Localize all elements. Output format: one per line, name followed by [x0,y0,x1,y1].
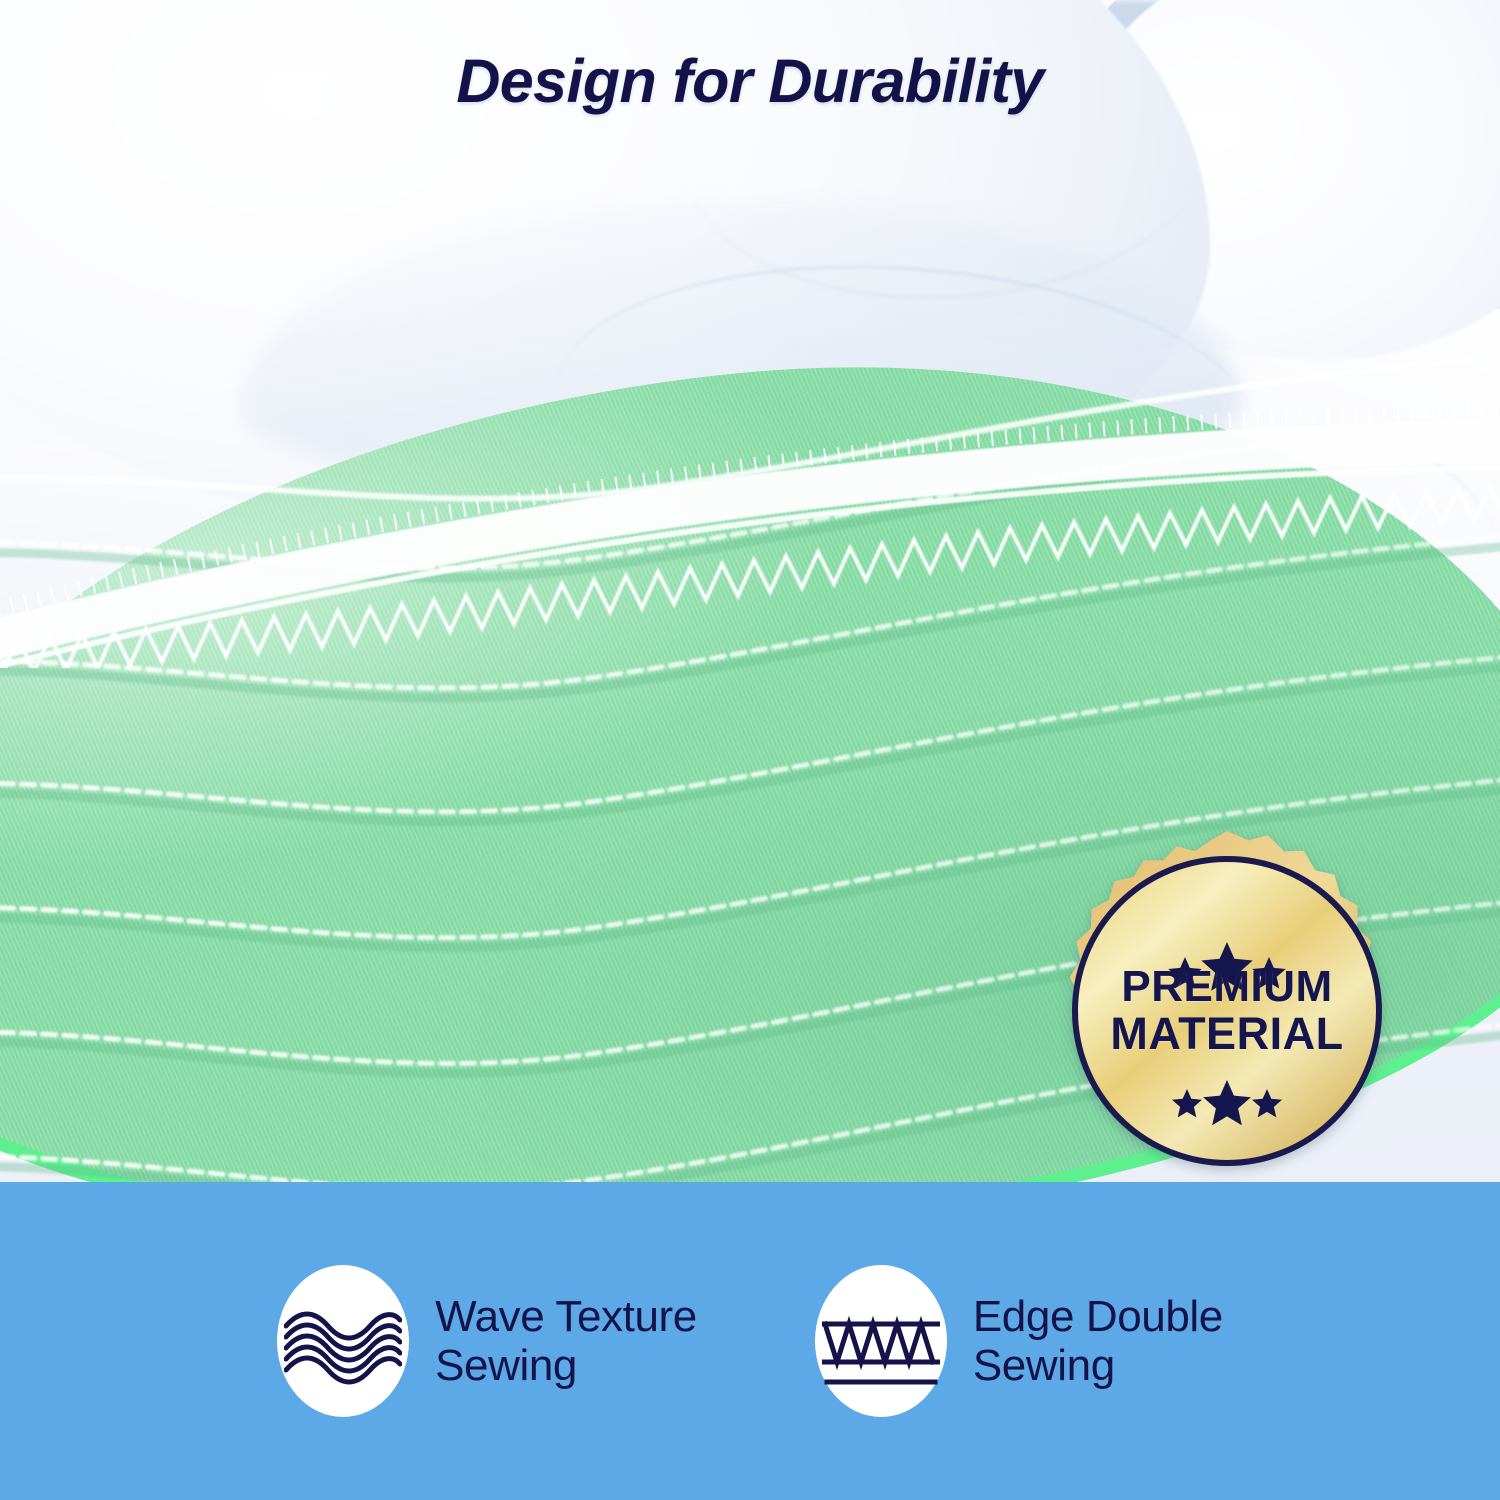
feature-item-wave-texture-sewing: Wave Texture Sewing [277,1265,697,1417]
badge-disc [1075,859,1379,1163]
product-infographic: Design for Durability [0,0,1500,1500]
feature-label: Edge Double Sewing [973,1292,1223,1391]
feature-list: Wave Texture Sewing Edge Double Sewing [0,1182,1500,1500]
feature-item-edge-double-sewing: Edge Double Sewing [815,1265,1223,1417]
feature-label: Wave Texture Sewing [435,1292,697,1391]
wave-lines-icon [277,1265,409,1417]
page-title: Design for Durability [0,46,1500,116]
zigzag-stitch-icon [815,1265,947,1417]
premium-material-badge: PREMIUM MATERIAL [1046,828,1408,1194]
